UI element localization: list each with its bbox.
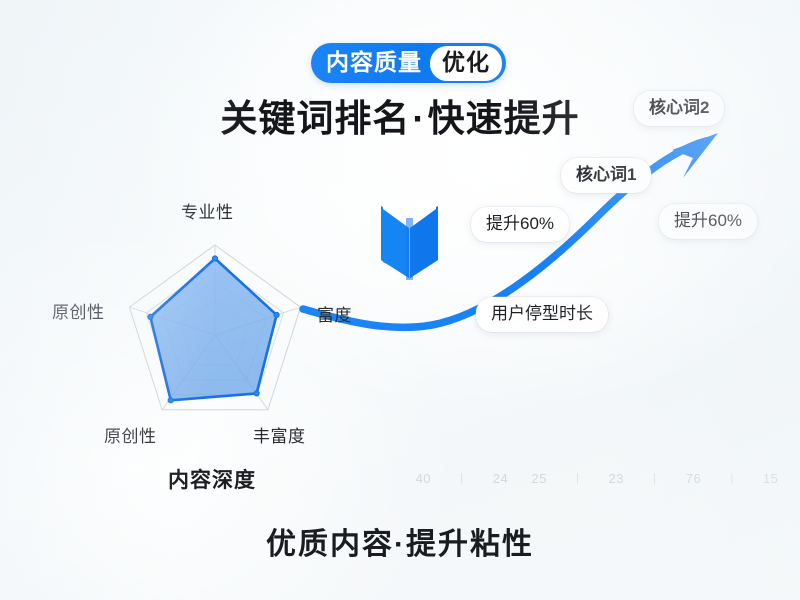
radar-grid [129, 245, 300, 410]
axis-tick-mark: | [713, 472, 752, 484]
callout-uplift-left[interactable]: 提升60% [471, 207, 569, 242]
callout-keyword-1[interactable]: 核心词1 [561, 158, 651, 193]
axis-tick-value: 76 [674, 471, 713, 486]
badge-chip-label: 优化 [430, 46, 502, 81]
page-subtitle-separator: · [394, 528, 406, 561]
radar-axis-label-top: 专业性 [181, 198, 234, 223]
radar-axis-label-bottom-left: 原创性 [104, 422, 157, 447]
page-subtitle-left: 优质内容 [266, 528, 394, 561]
axis-tick-value: 25 [520, 471, 559, 486]
axis-tick-value: 24 [481, 471, 520, 486]
axis-tick-value: 40 [404, 471, 443, 486]
callout-keyword-2[interactable]: 核心词2 [634, 91, 724, 126]
radar-axis-label-right: 富度 [317, 301, 352, 326]
radar-series-area [150, 259, 276, 401]
axis-tick-value: 15 [751, 471, 790, 486]
page-title-left: 关键词排名 [220, 98, 410, 139]
radar-spokes [129, 245, 300, 410]
page-title-separator: · [410, 98, 427, 139]
radar-axis-label-bottom-right: 丰富度 [253, 422, 306, 447]
faint-axis-strip: 40 | 24 25 | 23 | 76 | 15 [404, 466, 790, 490]
page-title-right: 快速提升 [428, 98, 580, 139]
poster-canvas: 内容质量 优化 关键词排名·快速提升 核心词2 核心词1 提升60% 提升60%… [0, 0, 800, 600]
axis-tick-mark: | [443, 472, 482, 484]
radar-chart-title: 内容深度 [168, 464, 256, 494]
badge-main-label: 内容质量 [326, 51, 422, 75]
callout-uplift-right[interactable]: 提升60% [659, 204, 757, 239]
radar-axis-label-left: 原创性 [52, 298, 105, 323]
radar-series-points [148, 256, 279, 403]
quality-badge[interactable]: 内容质量 优化 [311, 43, 506, 83]
callout-dwell-time[interactable]: 用户停型时长 [476, 297, 608, 332]
axis-tick-mark: | [558, 472, 597, 484]
page-subtitle: 优质内容·提升粘性 [0, 519, 800, 563]
axis-tick-mark: | [636, 472, 675, 484]
page-subtitle-right: 提升粘性 [406, 528, 534, 561]
axis-tick-value: 23 [597, 471, 636, 486]
